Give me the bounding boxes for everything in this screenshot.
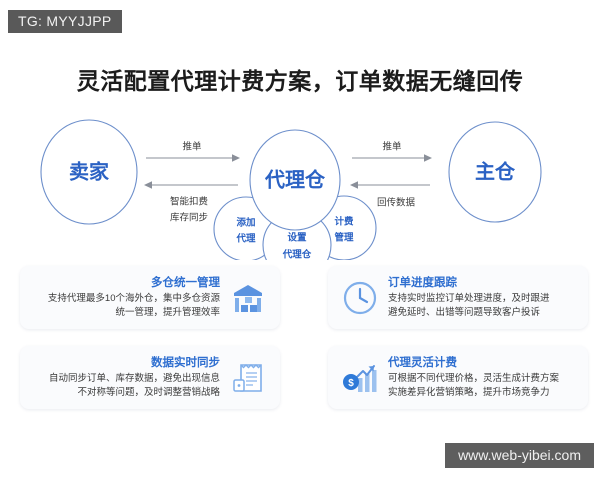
node-add-agent-line2: 代理 [235, 233, 256, 245]
card-desc-line1: 支持实时监控订单处理进度，及时跟进 [388, 292, 578, 306]
arrow-seller-to-agent [146, 154, 240, 162]
arrow-label-push-order-left: 推单 [182, 141, 202, 153]
card-desc-line1: 可根据不同代理价格，灵活生成计费方案 [388, 372, 578, 386]
node-seller-label: 卖家 [69, 159, 110, 183]
arrow-label-smart-deduct: 智能扣费 [170, 196, 208, 208]
card-desc-line2: 不对称等问题，及时调整营销战略 [30, 386, 220, 400]
node-main-warehouse-label: 主仓 [475, 159, 516, 183]
node-seller[interactable]: 卖家 [41, 120, 137, 224]
arrow-label-stock-sync: 库存同步 [170, 212, 208, 224]
card-title: 数据实时同步 [30, 356, 220, 370]
feature-card-order-tracking[interactable]: 订单进度跟踪 支持实时监控订单处理进度，及时跟进 避免延时、出错等问题导致客户投… [328, 266, 588, 329]
card-desc-line2: 避免延时、出错等问题导致客户投诉 [388, 306, 578, 320]
node-agent-warehouse[interactable]: 代理仓 [250, 130, 340, 230]
arrow-main-to-agent [350, 181, 430, 189]
card-desc-line2: 实施差异化营销策略，提升市场竞争力 [388, 386, 578, 400]
tg-handle-badge: TG: MYYJJPP [8, 10, 122, 33]
card-title: 多仓统一管理 [30, 276, 220, 290]
node-billing-manage-line2: 管理 [334, 232, 354, 244]
card-desc-line1: 支持代理最多10个海外仓，集中多仓资源 [30, 292, 220, 306]
node-main-warehouse[interactable]: 主仓 [449, 122, 541, 222]
node-billing-manage-line1: 计费 [334, 216, 354, 228]
infographic-page: TG: MYYJJPP 灵活配置代理计费方案，订单数据无缝回传 推单 智能扣费 … [0, 0, 600, 480]
node-agent-warehouse-label: 代理仓 [264, 167, 326, 191]
card-title: 订单进度跟踪 [388, 276, 578, 290]
card-text-block: 多仓统一管理 支持代理最多10个海外仓，集中多仓资源 统一管理，提升管理效率 [30, 276, 226, 320]
feature-card-data-sync[interactable]: 数据实时同步 自动同步订单、库存数据，避免出现信息 不对称等问题，及时调整营销战… [20, 346, 280, 409]
feature-card-grid: 多仓统一管理 支持代理最多10个海外仓，集中多仓资源 统一管理，提升管理效率 [0, 262, 600, 422]
svg-text:$: $ [348, 378, 354, 389]
document-icon [226, 356, 270, 400]
card-desc-line2: 统一管理，提升管理效率 [30, 306, 220, 320]
card-title: 代理灵活计费 [388, 356, 578, 370]
feature-card-flexible-billing[interactable]: $ 代理灵活计费 可根据不同代理价格，灵活生成计费方案 实施差异化营销策略，提升… [328, 346, 588, 409]
chart-money-icon: $ [338, 356, 382, 400]
clock-icon [338, 276, 382, 320]
flow-diagram: 推单 智能扣费 库存同步 推单 回传数据 添加 代理 [0, 110, 600, 260]
node-add-agent-line1: 添加 [236, 217, 255, 229]
card-text-block: 数据实时同步 自动同步订单、库存数据，避免出现信息 不对称等问题，及时调整营销战… [30, 356, 226, 400]
card-desc-line1: 自动同步订单、库存数据，避免出现信息 [30, 372, 220, 386]
arrow-agent-to-seller [144, 181, 238, 189]
arrow-label-return-data: 回传数据 [377, 197, 416, 209]
site-watermark: www.web-yibei.com [445, 443, 594, 468]
warehouse-icon [226, 276, 270, 320]
node-setup-line1: 设置 [287, 232, 307, 244]
card-text-block: 代理灵活计费 可根据不同代理价格，灵活生成计费方案 实施差异化营销策略，提升市场… [382, 356, 578, 400]
feature-card-multi-warehouse[interactable]: 多仓统一管理 支持代理最多10个海外仓，集中多仓资源 统一管理，提升管理效率 [20, 266, 280, 329]
page-title: 灵活配置代理计费方案，订单数据无缝回传 [0, 62, 600, 96]
arrow-label-push-order-right: 推单 [382, 141, 402, 153]
node-setup-line2: 代理仓 [282, 249, 312, 260]
card-text-block: 订单进度跟踪 支持实时监控订单处理进度，及时跟进 避免延时、出错等问题导致客户投… [382, 276, 578, 320]
arrow-agent-to-main [352, 154, 432, 162]
